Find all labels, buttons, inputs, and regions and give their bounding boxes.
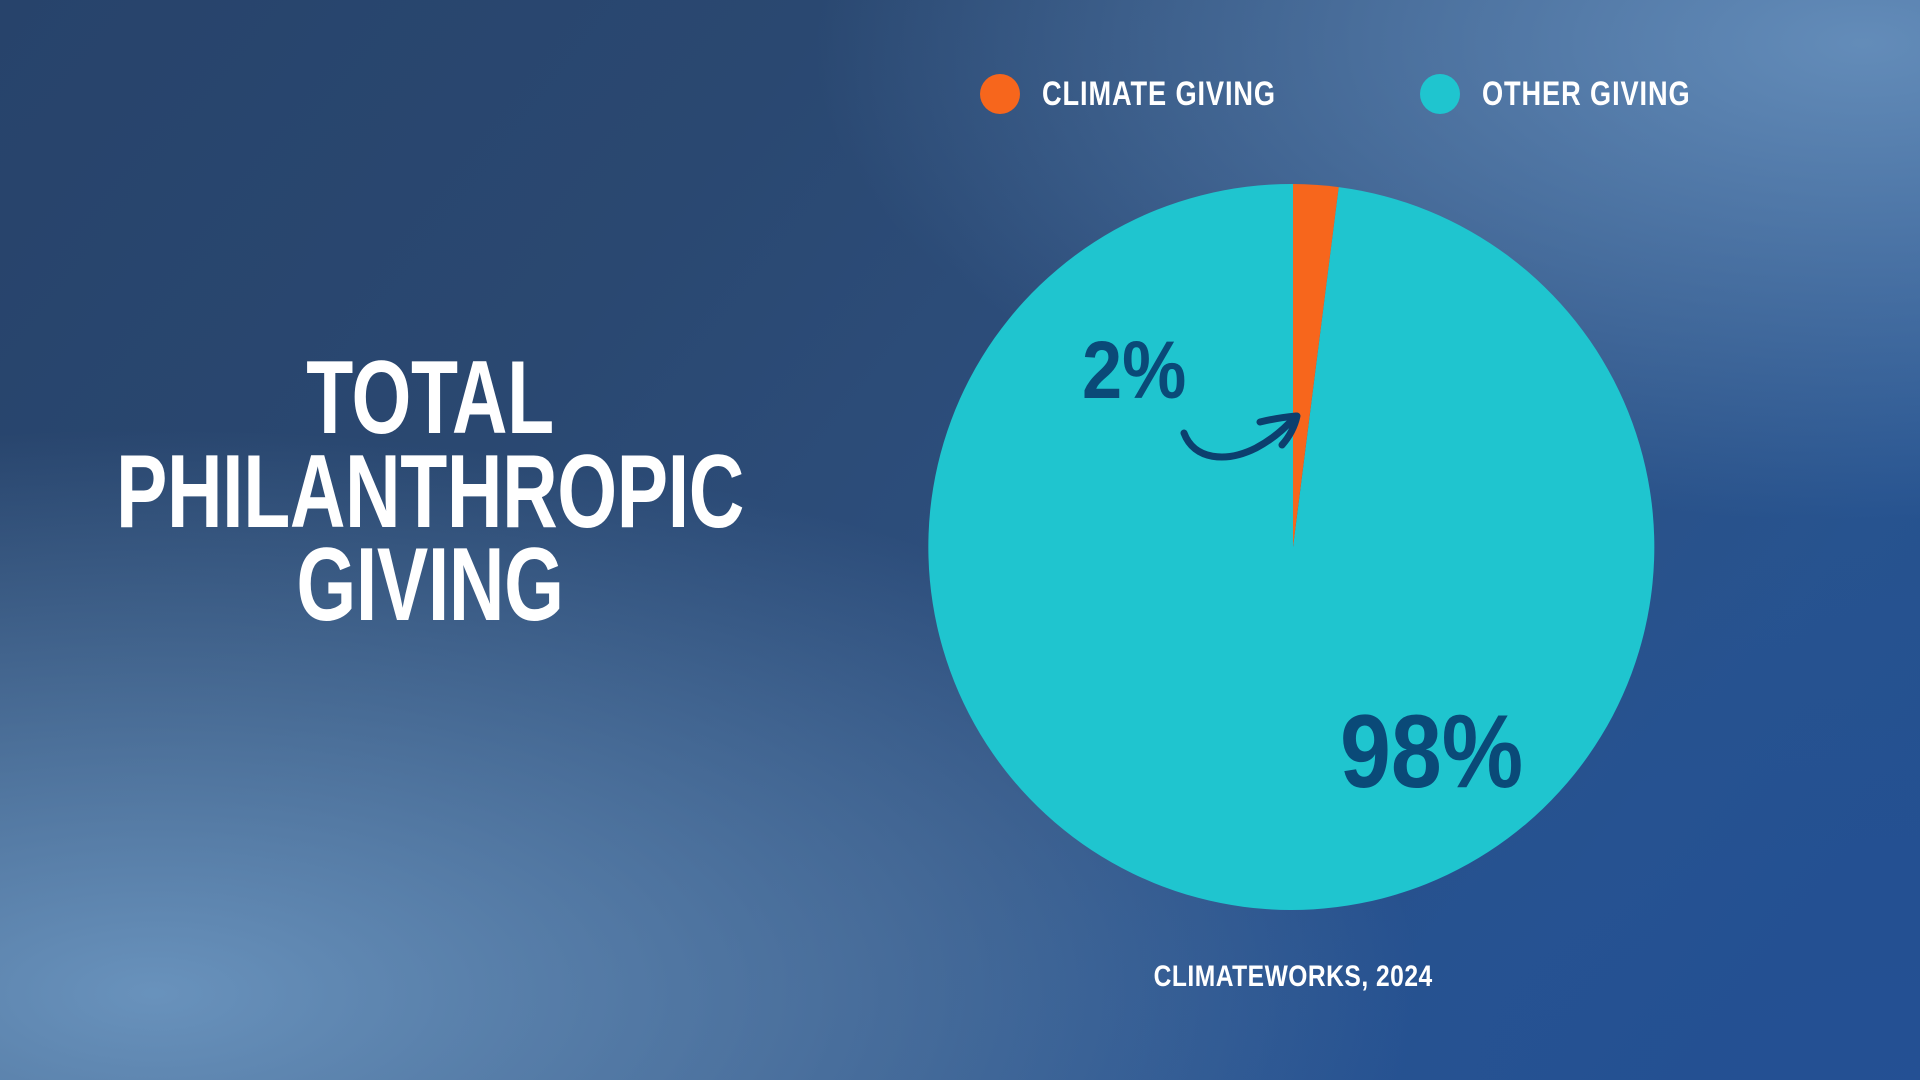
title-line-3: GIVING [112, 539, 748, 633]
title-line-1: TOTAL [112, 352, 748, 446]
title-line-2: PHILANTHROPIC [112, 446, 748, 540]
chart-legend: CLIMATE GIVING OTHER GIVING [980, 74, 1743, 114]
legend-item-label: CLIMATE GIVING [1042, 77, 1276, 111]
pie-slice-other-giving[interactable] [928, 184, 1654, 910]
infographic-canvas: CLIMATE GIVING OTHER GIVING TOTAL PHILAN… [0, 0, 1920, 1080]
legend-item-other-giving[interactable]: OTHER GIVING [1420, 74, 1743, 114]
page-title: TOTAL PHILANTHROPIC GIVING [0, 352, 860, 633]
callout-arrow [1160, 400, 1340, 510]
legend-item-label: OTHER GIVING [1482, 77, 1691, 111]
source-caption-text: CLIMATEWORKS, 2024 [1153, 960, 1432, 994]
legend-dot-icon [1420, 74, 1460, 114]
slice-label-other-giving: 98% [1340, 700, 1523, 804]
curved-arrow-icon [1160, 400, 1340, 510]
source-caption: CLIMATEWORKS, 2024 [928, 960, 1658, 994]
legend-dot-icon [980, 74, 1020, 114]
legend-item-climate-giving[interactable]: CLIMATE GIVING [980, 74, 1334, 114]
pie-chart-svg [928, 182, 1658, 912]
pie-chart [928, 182, 1658, 912]
